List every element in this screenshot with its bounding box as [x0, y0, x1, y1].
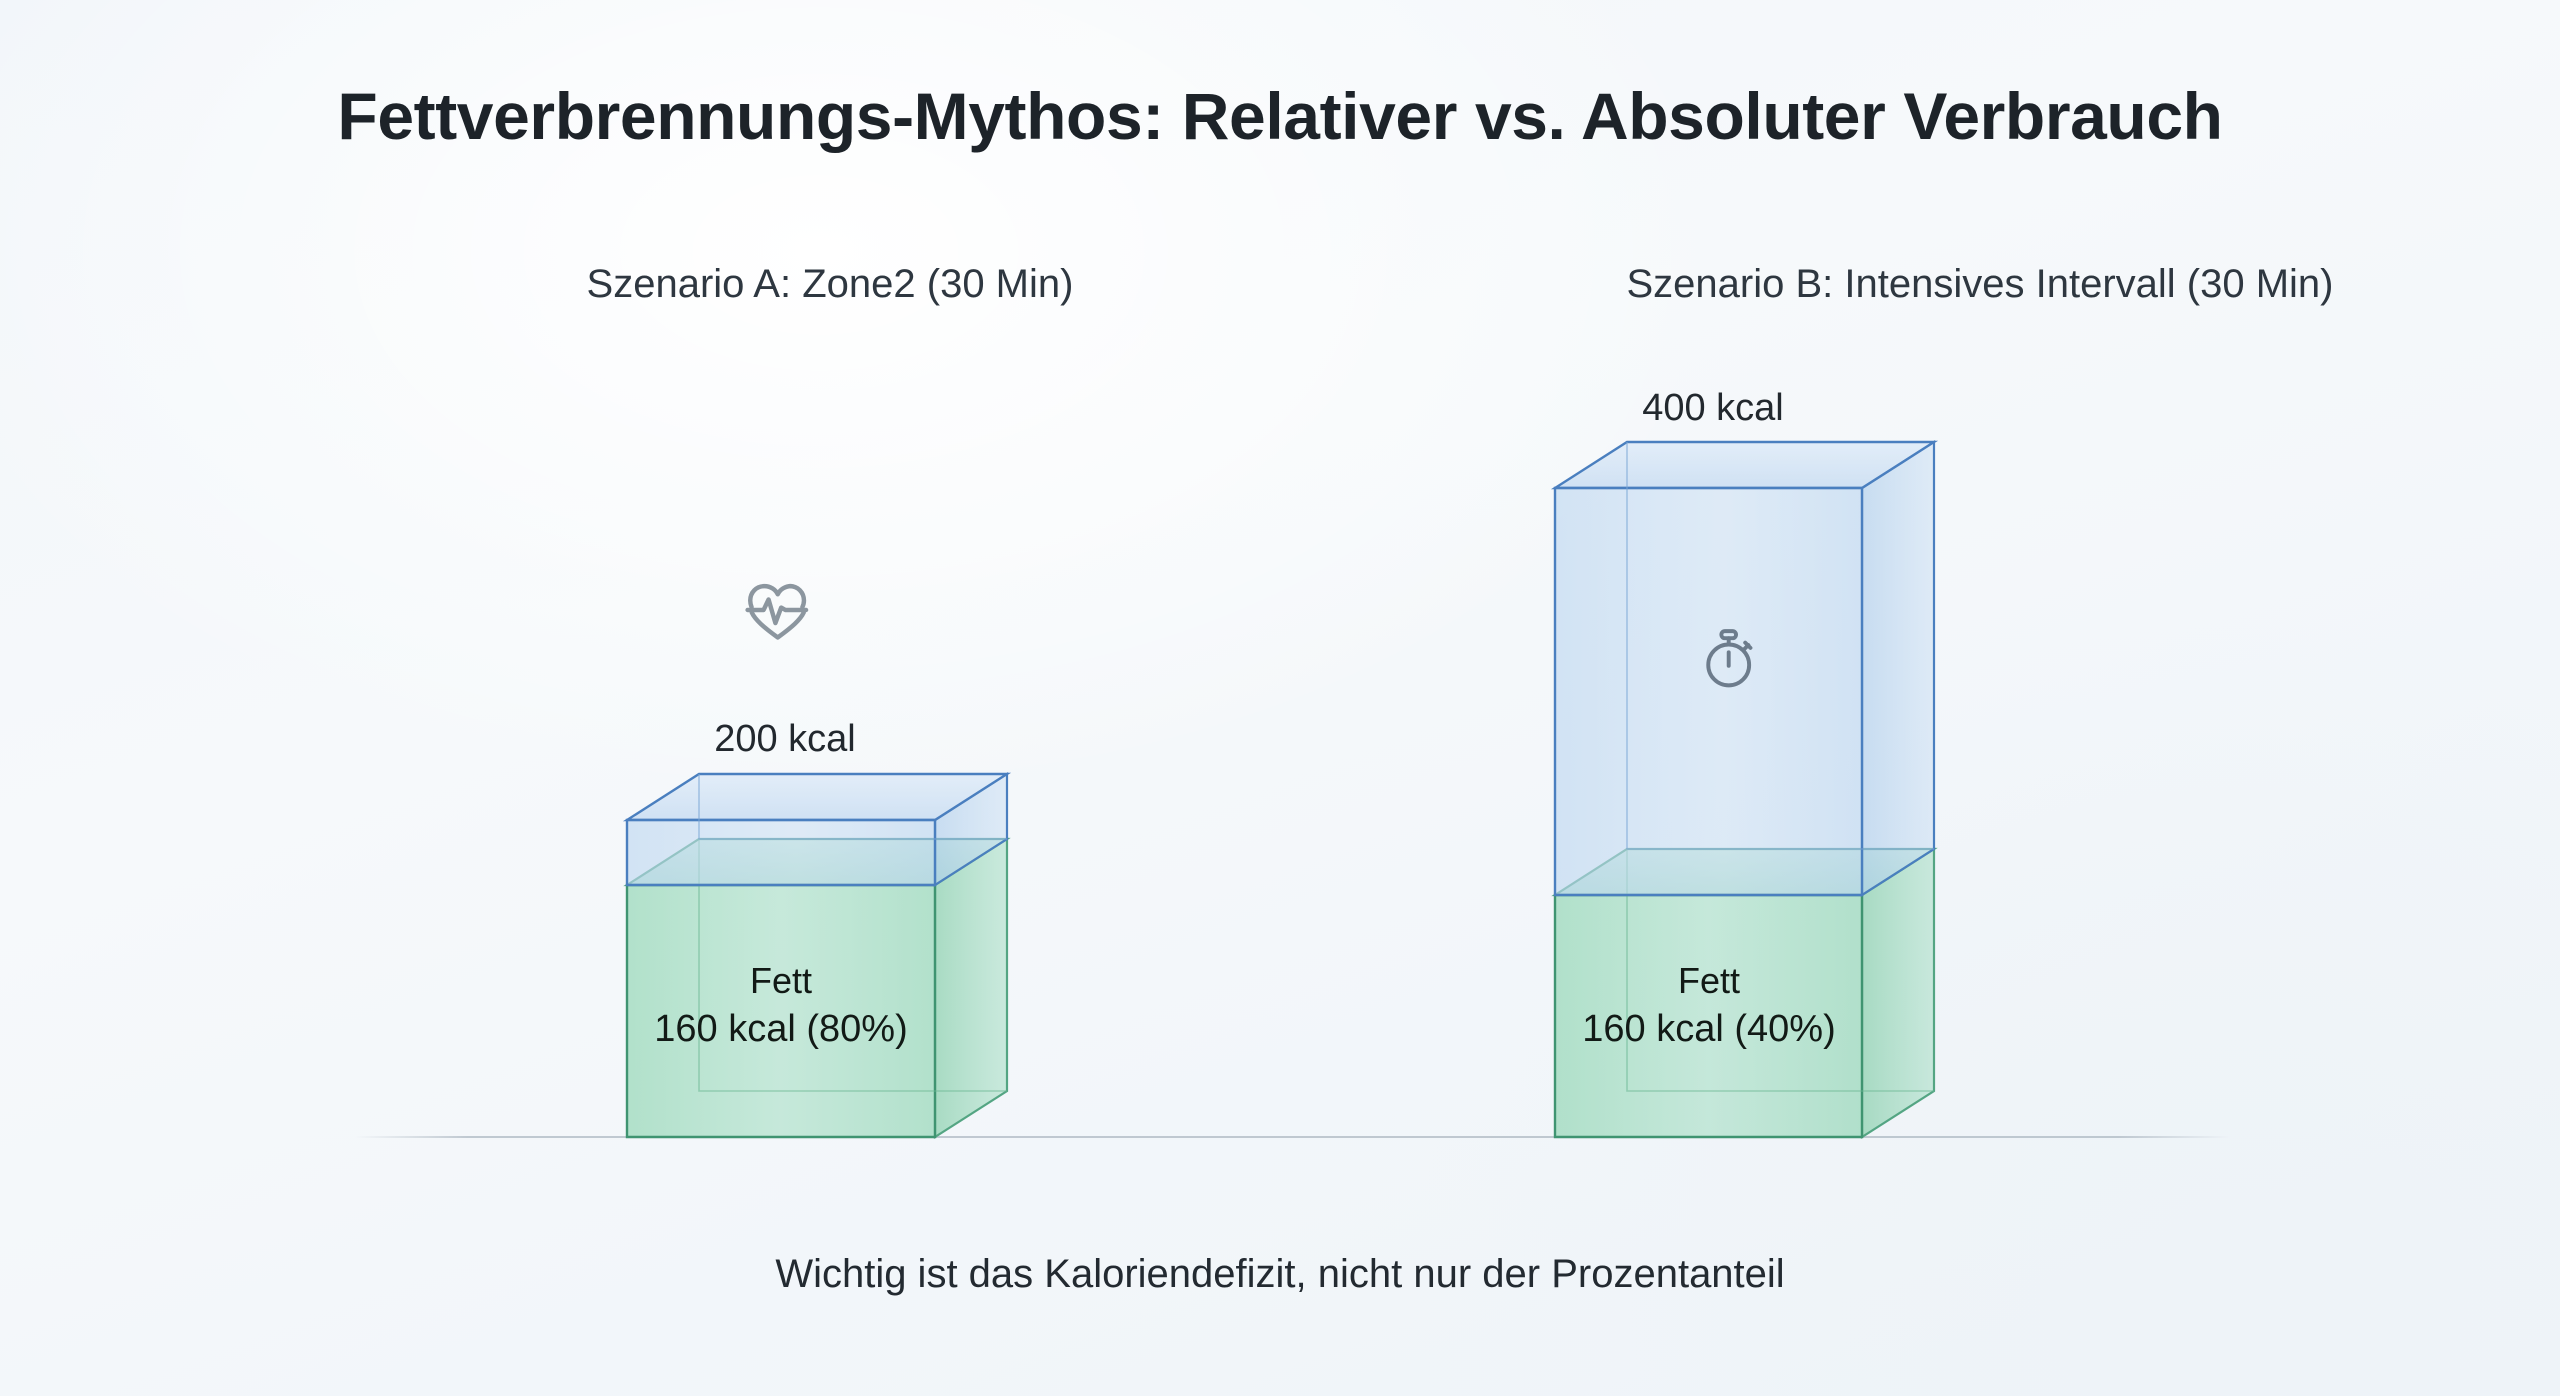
- cube-a-total-front: [627, 820, 935, 885]
- scenario-b-fat-title: Fett: [1555, 958, 1863, 1004]
- cube-b-fat-top: [1555, 849, 1934, 895]
- cubes-scene: [0, 0, 2560, 1396]
- scenario-b-heading: Szenario B: Intensives Intervall (30 Min…: [1160, 262, 2560, 307]
- page-title: Fettverbrennungs-Mythos: Relativer vs. A…: [0, 78, 2560, 154]
- cube-b-total-front: [1555, 488, 1862, 895]
- cube-b-total-top: [1555, 442, 1934, 488]
- cube-b-fat-side: [1862, 849, 1934, 1137]
- scenario-b-fat-value: 160 kcal (40%): [1555, 1004, 1863, 1054]
- heart-pulse-icon: [748, 586, 806, 637]
- scenario-a-fat-label: Fett 160 kcal (80%): [627, 958, 935, 1054]
- cube-a-total-hidden-edges: [699, 774, 1007, 839]
- scenario-a-fat-value: 160 kcal (80%): [627, 1004, 935, 1054]
- cube-a-total-side: [935, 774, 1007, 885]
- footnote-text: Wichtig ist das Kaloriendefizit, nicht n…: [0, 1252, 2560, 1297]
- ground-line: [355, 1136, 2230, 1138]
- cube-a-total-top: [627, 774, 1007, 820]
- scenario-a-fat-title: Fett: [627, 958, 935, 1004]
- cube-a-fat-top: [627, 839, 1007, 885]
- cube-a-fat-side: [935, 839, 1007, 1137]
- cube-b-total-hidden-edges: [1627, 442, 1934, 849]
- stopwatch-icon: [1708, 631, 1750, 685]
- scenario-b-total-label: 400 kcal: [1559, 387, 1867, 430]
- infographic-canvas: Fettverbrennungs-Mythos: Relativer vs. A…: [0, 0, 2560, 1396]
- scenario-b-fat-label: Fett 160 kcal (40%): [1555, 958, 1863, 1054]
- cube-b-total-side: [1862, 442, 1934, 895]
- scenario-a-total-label: 200 kcal: [631, 718, 939, 761]
- cube-scenario-a: [627, 774, 1007, 1137]
